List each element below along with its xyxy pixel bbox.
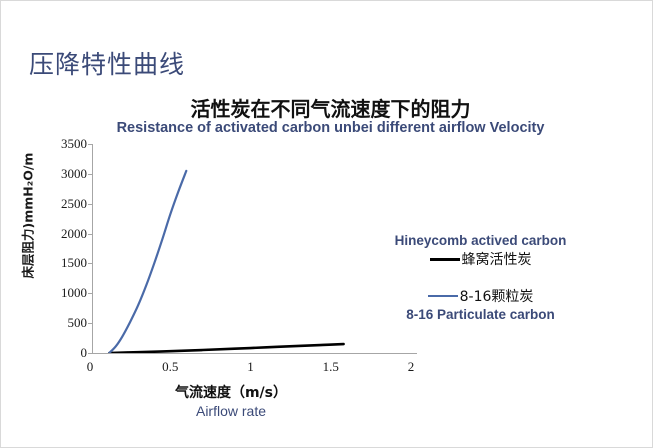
chart-legend: Hineycomb actived carbon 蜂窝活性炭 8-16颗粒炭 8… bbox=[373, 233, 588, 322]
y-tick-mark bbox=[88, 144, 92, 145]
legend-label-particulate: 8-16颗粒炭 bbox=[460, 286, 534, 306]
slide-canvas: 压降特性曲线 活性炭在不同气流速度下的阻力 Resistance of acti… bbox=[0, 0, 653, 448]
x-tick-label: 1 bbox=[231, 359, 271, 375]
y-tick-mark bbox=[88, 204, 92, 205]
y-axis-tick-labels: 0500100015002000250030003500 bbox=[39, 1, 87, 448]
x-tick-label: 0 bbox=[70, 359, 110, 375]
y-tick-label: 3500 bbox=[41, 137, 87, 150]
plot-area bbox=[92, 144, 417, 353]
x-axis-line bbox=[92, 353, 417, 354]
y-tick-label: 3000 bbox=[41, 167, 87, 180]
y-tick-mark bbox=[88, 263, 92, 264]
chart-subtitle-english: Resistance of activated carbon unbei dif… bbox=[9, 120, 652, 136]
x-axis-title-chinese: 气流速度（m/s） bbox=[116, 382, 346, 402]
x-tick-label: 0.5 bbox=[150, 359, 190, 375]
legend-line-swatch-blue bbox=[428, 295, 458, 297]
y-tick-mark bbox=[88, 234, 92, 235]
y-tick-label: 0 bbox=[41, 346, 87, 359]
x-axis-title-english: Airflow rate bbox=[116, 403, 346, 419]
y-tick-mark bbox=[88, 293, 92, 294]
chart-title-chinese: 活性炭在不同气流速度下的阻力 bbox=[9, 93, 652, 122]
y-tick-label: 2500 bbox=[41, 197, 87, 210]
series-line bbox=[109, 344, 343, 353]
y-axis-title: 床层阻力)mmH₂O/m bbox=[18, 146, 37, 286]
y-tick-label: 1500 bbox=[41, 256, 87, 269]
legend-caption-particulate: 8-16 Particulate carbon bbox=[373, 307, 588, 322]
legend-item-particulate: 8-16颗粒炭 bbox=[373, 286, 588, 306]
legend-item-honeycomb: 蜂窝活性炭 bbox=[373, 249, 588, 269]
y-tick-label: 2000 bbox=[41, 227, 87, 240]
legend-label-honeycomb: 蜂窝活性炭 bbox=[462, 249, 532, 269]
y-tick-mark bbox=[88, 174, 92, 175]
y-tick-label: 1000 bbox=[41, 286, 87, 299]
x-tick-label: 2 bbox=[391, 359, 431, 375]
series-lines bbox=[92, 144, 417, 353]
y-tick-label: 500 bbox=[41, 316, 87, 329]
x-tick-label: 1.5 bbox=[311, 359, 351, 375]
legend-line-swatch-black bbox=[430, 258, 460, 261]
y-tick-mark bbox=[88, 353, 92, 354]
series-line bbox=[109, 171, 186, 353]
legend-caption-honeycomb: Hineycomb actived carbon bbox=[373, 233, 588, 248]
y-tick-mark bbox=[88, 323, 92, 324]
